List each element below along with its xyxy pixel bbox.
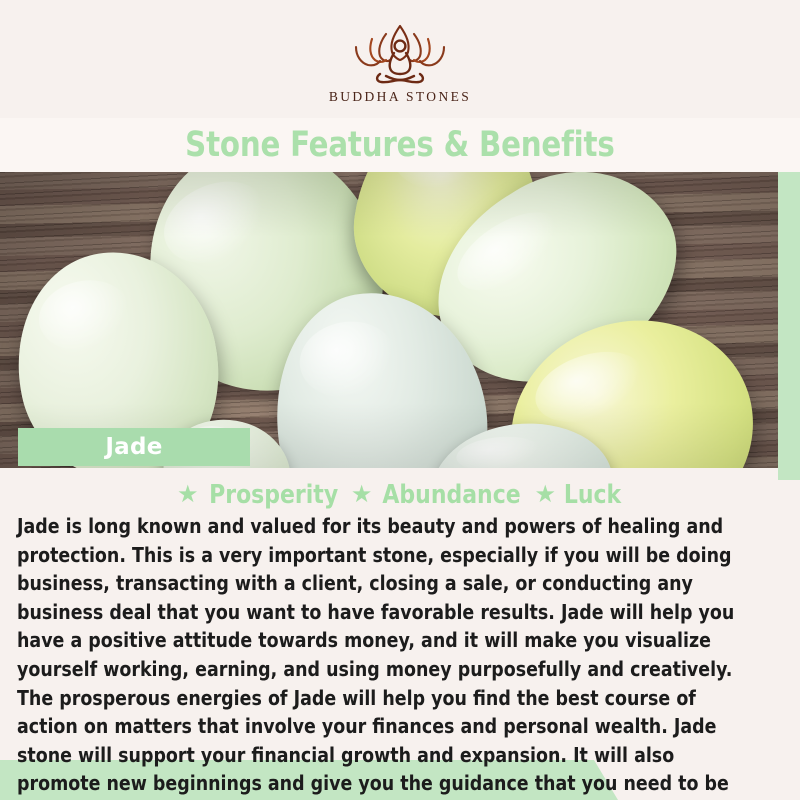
keyword-prosperity: ★ Prosperity	[177, 480, 342, 510]
star-icon: ★	[534, 483, 556, 507]
stone-name-chip: Jade	[18, 428, 250, 466]
star-icon: ★	[351, 483, 373, 507]
stone-name-label: Jade	[105, 434, 162, 460]
keyword-label: Abundance	[383, 480, 521, 510]
keyword-luck: ★ Luck	[534, 480, 623, 510]
keyword-abundance: ★ Abundance	[351, 480, 526, 510]
page-title: Stone Features & Benefits	[185, 125, 614, 165]
stone-photo	[0, 172, 778, 468]
keyword-label: Luck	[564, 480, 621, 510]
star-icon: ★	[177, 483, 199, 507]
stone-description: Jade is long known and valued for its be…	[17, 512, 756, 800]
title-bar: Stone Features & Benefits	[0, 118, 800, 172]
keyword-row: ★ Prosperity ★ Abundance ★ Luck	[0, 478, 800, 512]
keyword-label: Prosperity	[209, 480, 338, 510]
lotus-meditation-icon	[334, 22, 466, 84]
brand-name: BUDDHA STONES	[329, 89, 471, 105]
brand-header: BUDDHA STONES	[0, 0, 800, 118]
stone-info-poster: BUDDHA STONES Stone Features & Benefits …	[0, 0, 800, 800]
